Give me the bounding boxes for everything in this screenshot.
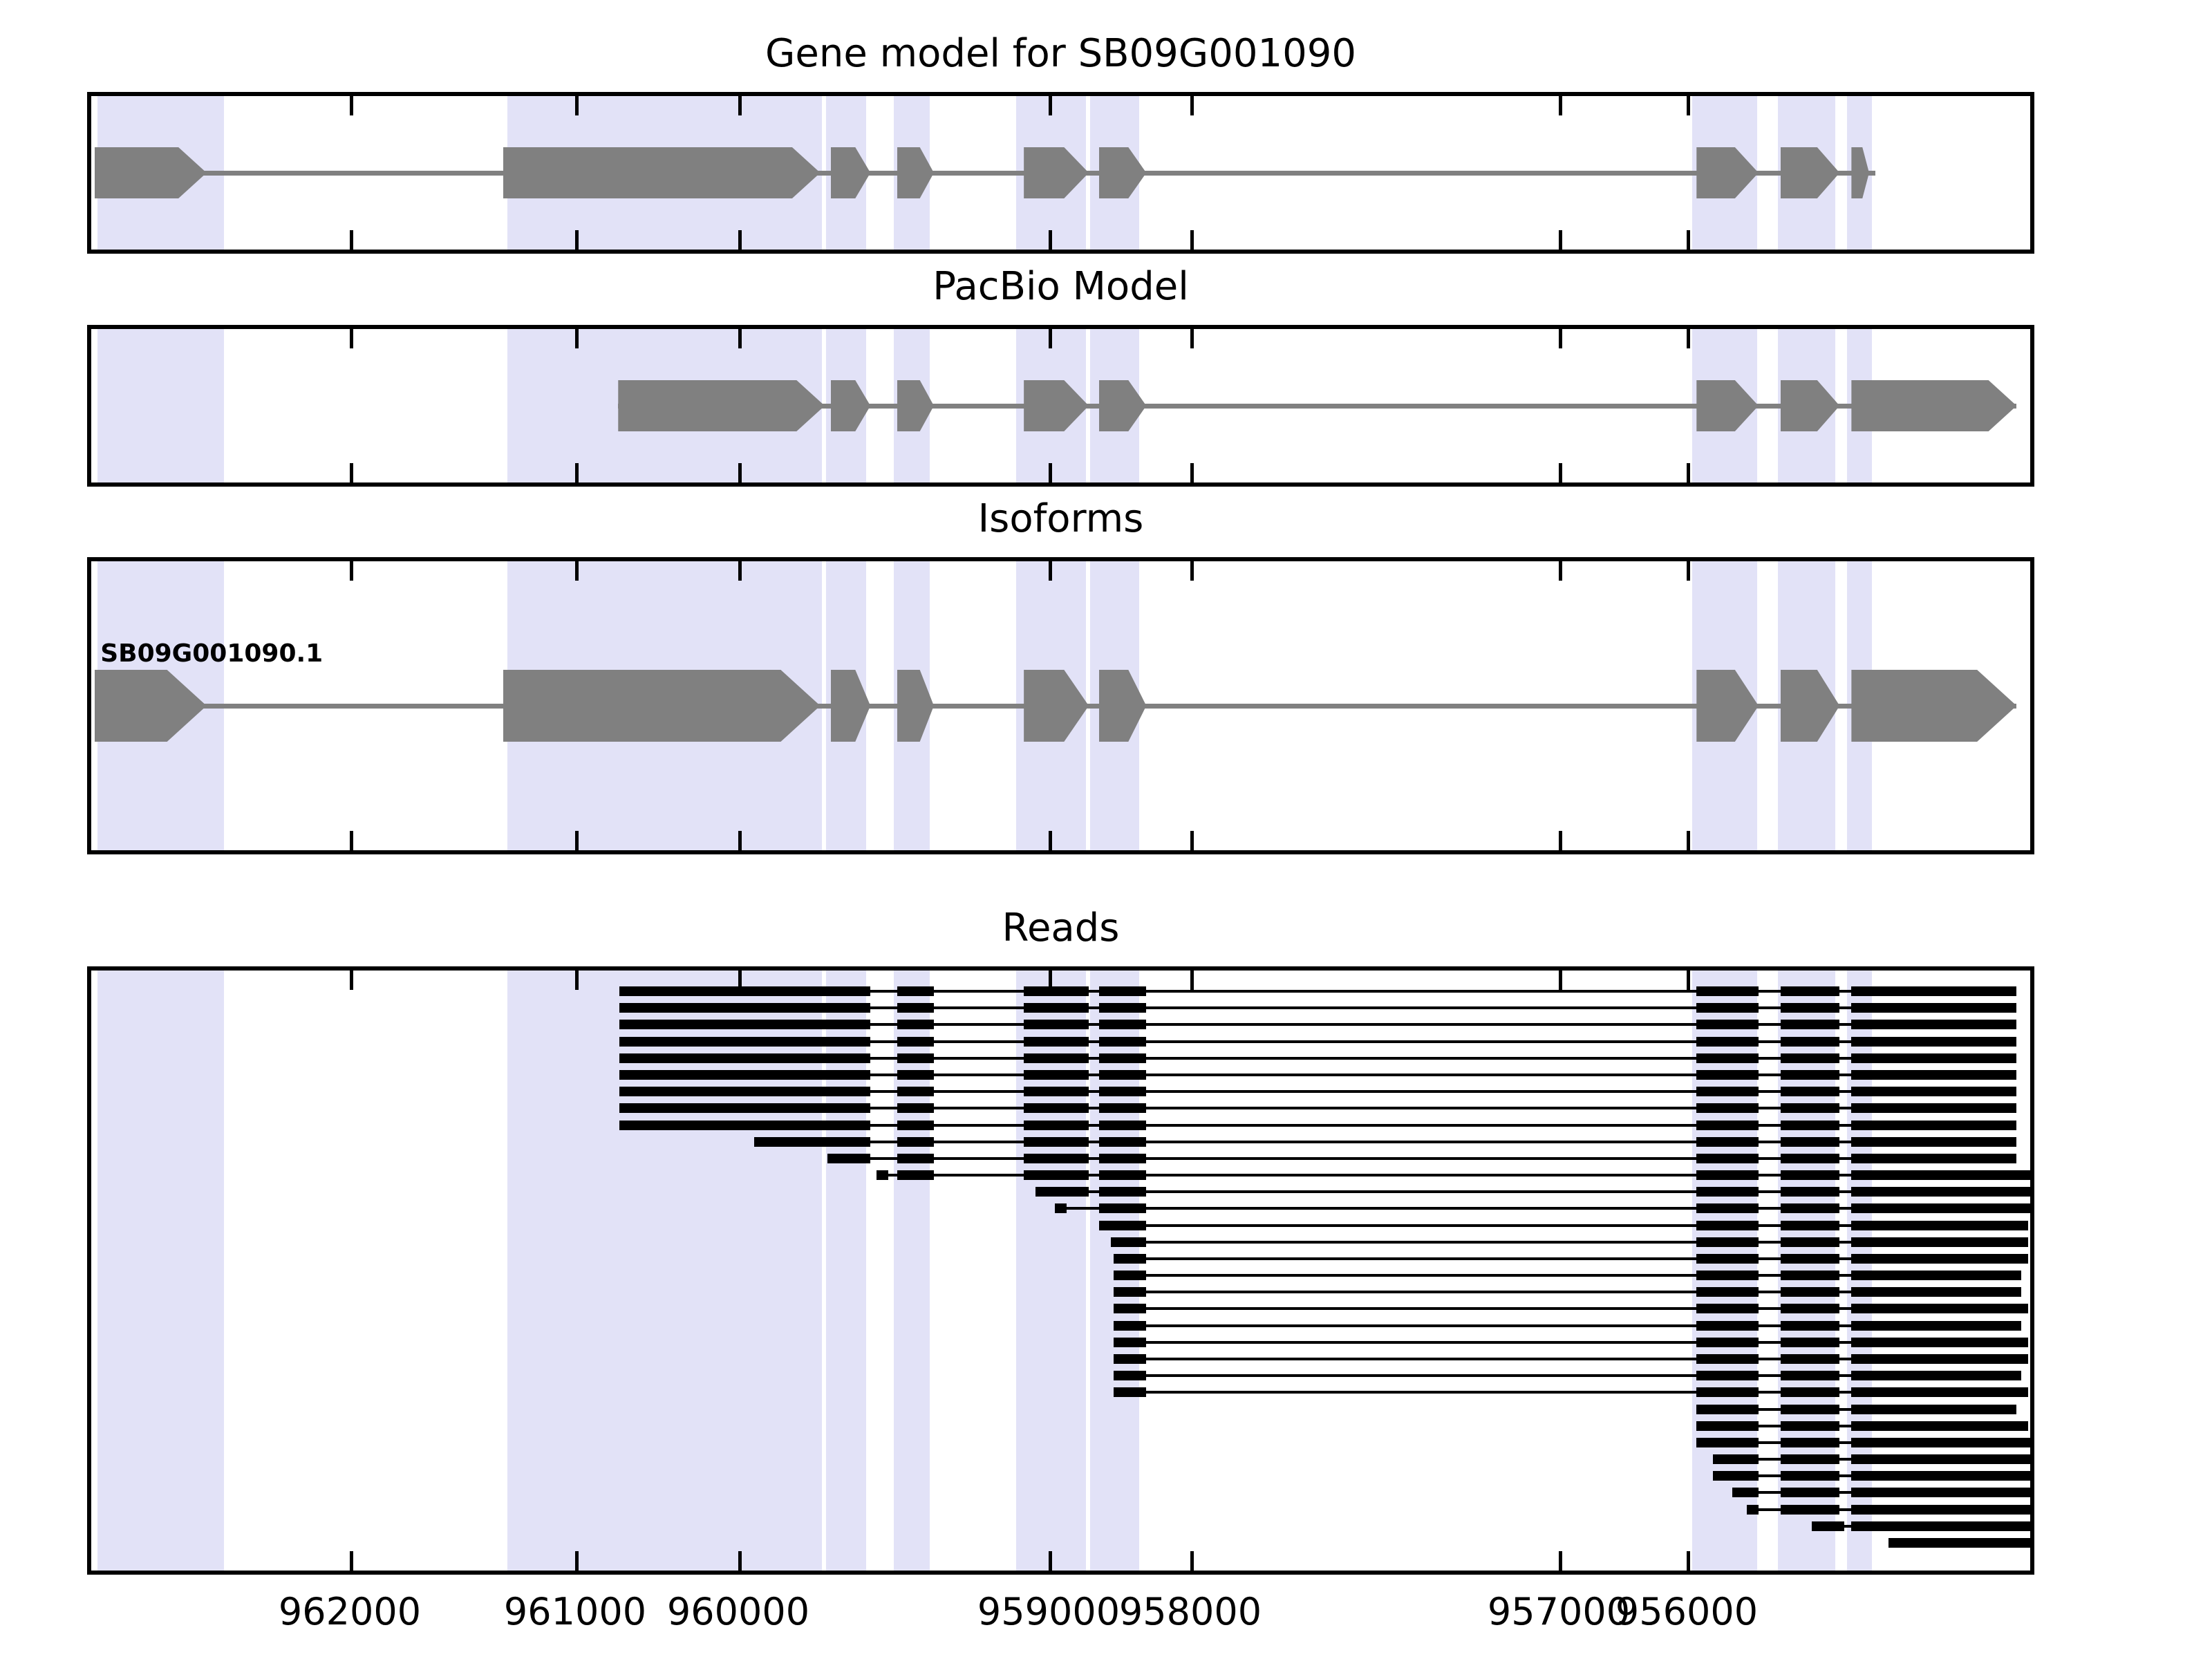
pacbio-model-exon xyxy=(1851,380,2016,431)
read-block xyxy=(1888,1538,2030,1548)
read-block xyxy=(1851,1170,2030,1180)
read-block xyxy=(1696,1287,1759,1297)
read-block xyxy=(1851,1505,2030,1515)
read-block xyxy=(1781,1254,1839,1264)
panel-isoforms: SB09G001090.1 xyxy=(87,557,2034,854)
read-block xyxy=(1111,1237,1146,1247)
axis-tick xyxy=(738,230,742,250)
read-block xyxy=(1696,1304,1759,1313)
axis-tick xyxy=(350,329,353,348)
read-block xyxy=(1851,1488,2030,1497)
read-block xyxy=(1024,1103,1089,1113)
read-block xyxy=(1781,1020,1839,1029)
read-block xyxy=(619,1053,830,1063)
read-block xyxy=(1812,1521,1844,1531)
axis-tick xyxy=(1559,463,1562,482)
axis-tick xyxy=(738,96,742,115)
read-block xyxy=(1099,1203,1146,1213)
read-block xyxy=(1851,1154,2016,1163)
read-block xyxy=(1099,986,1146,996)
read-block xyxy=(897,1003,934,1013)
read-block xyxy=(1851,1471,2030,1481)
read-block xyxy=(1696,1103,1759,1113)
read-block xyxy=(1851,1254,2028,1264)
isoform-exon xyxy=(1851,670,2016,742)
axis-tick xyxy=(1687,230,1690,250)
read-block xyxy=(1713,1471,1759,1481)
read-block xyxy=(1696,1338,1759,1347)
read-block xyxy=(1713,1454,1759,1464)
read-block xyxy=(1851,1121,2016,1130)
pacbio-model-exon xyxy=(1099,380,1146,431)
panel-title-gene_model: Gene model for SB09G001090 xyxy=(87,31,2034,76)
read-block xyxy=(1099,1003,1146,1013)
read-block xyxy=(897,1154,934,1163)
read-block xyxy=(831,1037,871,1047)
read-block xyxy=(1781,1488,1839,1497)
read-block xyxy=(1851,1137,2016,1147)
read-block xyxy=(1114,1371,1146,1380)
axis-tick xyxy=(1190,463,1194,482)
read-block xyxy=(1781,1471,1839,1481)
read-block xyxy=(1114,1271,1146,1280)
axis-tick xyxy=(738,561,742,581)
gene-model-intron-line xyxy=(95,171,1875,176)
read-block xyxy=(1024,1121,1089,1130)
axis-tick xyxy=(1687,463,1690,482)
axis-tick xyxy=(1049,831,1052,850)
read-block xyxy=(1114,1287,1146,1297)
x-axis-tick-label: 957000 xyxy=(1488,1590,1630,1633)
read-block xyxy=(1851,1304,2028,1313)
read-block xyxy=(1851,1271,2021,1280)
read-block xyxy=(1781,1087,1839,1096)
read-block xyxy=(897,986,934,996)
read-block xyxy=(1781,1070,1839,1080)
read-block xyxy=(831,1137,871,1147)
axis-tick xyxy=(575,96,579,115)
read-block xyxy=(1851,1020,2016,1029)
read-block xyxy=(1696,1221,1759,1230)
panel-pacbio_model xyxy=(87,325,2034,487)
isoform-exon xyxy=(503,670,821,742)
read-block xyxy=(1851,1421,2028,1431)
axis-tick xyxy=(350,971,353,990)
read-block xyxy=(1781,1003,1839,1013)
read-block xyxy=(1851,1103,2016,1113)
plot-area-gene_model xyxy=(91,96,2030,250)
read-block xyxy=(1035,1187,1089,1197)
read-block xyxy=(1781,1103,1839,1113)
read-block xyxy=(1781,1121,1839,1130)
read-block xyxy=(831,1087,871,1096)
read-block xyxy=(1024,1154,1089,1163)
read-block xyxy=(897,1037,934,1047)
read-block xyxy=(619,1037,830,1047)
read-block xyxy=(1851,1070,2016,1080)
read-block xyxy=(897,1137,934,1147)
read-block xyxy=(1781,1304,1839,1313)
axis-tick xyxy=(350,96,353,115)
read-block xyxy=(619,1121,830,1130)
read-block xyxy=(897,1121,934,1130)
axis-tick xyxy=(1049,96,1052,115)
read-block xyxy=(1851,1221,2028,1230)
read-block xyxy=(1696,986,1759,996)
read-block xyxy=(1851,1187,2030,1197)
read-block xyxy=(1099,1154,1146,1163)
read-block xyxy=(1024,1170,1089,1180)
read-block xyxy=(1851,1203,2030,1213)
read-block xyxy=(1781,1154,1839,1163)
read-block xyxy=(1696,1321,1759,1331)
axis-tick xyxy=(1687,1551,1690,1571)
axis-tick xyxy=(1687,96,1690,115)
read-block xyxy=(1099,1087,1146,1096)
axis-tick xyxy=(1190,96,1194,115)
read-block xyxy=(831,1154,871,1163)
read-block xyxy=(877,1170,888,1180)
read-block xyxy=(1099,1121,1146,1130)
read-block xyxy=(1781,1354,1839,1364)
axis-tick xyxy=(1687,329,1690,348)
axis-tick xyxy=(1049,561,1052,581)
axis-tick xyxy=(1559,329,1562,348)
read-block xyxy=(1696,1154,1759,1163)
read-block xyxy=(897,1020,934,1029)
read-block xyxy=(1851,1338,2028,1347)
isoform-label: SB09G001090.1 xyxy=(100,639,323,668)
read-block xyxy=(897,1170,934,1180)
read-block xyxy=(1099,1020,1146,1029)
read-block xyxy=(1099,1037,1146,1047)
read-block xyxy=(1696,1037,1759,1047)
read-block xyxy=(1024,1037,1089,1047)
read-block xyxy=(1781,1405,1839,1414)
read-block xyxy=(619,1003,830,1013)
axis-tick xyxy=(1559,96,1562,115)
read-block xyxy=(1024,1003,1089,1013)
x-axis-tick-label: 959000 xyxy=(977,1590,1120,1633)
axis-tick xyxy=(350,230,353,250)
read-block xyxy=(1851,1003,2016,1013)
panel-title-pacbio_model: PacBio Model xyxy=(87,264,2034,309)
x-axis-tick-label: 956000 xyxy=(1615,1590,1758,1633)
axis-tick xyxy=(350,1551,353,1571)
read-block xyxy=(1696,1087,1759,1096)
read-block xyxy=(1851,1037,2016,1047)
read-block xyxy=(1024,1053,1089,1063)
read-block xyxy=(1851,1405,2016,1414)
read-block xyxy=(1024,986,1089,996)
axis-tick xyxy=(1559,971,1562,990)
read-block xyxy=(619,1020,830,1029)
axis-tick xyxy=(738,463,742,482)
read-block xyxy=(1781,1137,1839,1147)
read-block xyxy=(1781,1203,1839,1213)
read-block xyxy=(1099,1137,1146,1147)
axis-tick xyxy=(738,831,742,850)
read-block xyxy=(1024,1020,1089,1029)
axis-tick xyxy=(1190,1551,1194,1571)
read-block xyxy=(619,986,830,996)
read-block xyxy=(897,1103,934,1113)
panel-gene_model xyxy=(87,92,2034,254)
axis-tick xyxy=(575,329,579,348)
plot-area-isoforms: SB09G001090.1 xyxy=(91,561,2030,850)
read-block xyxy=(1099,1187,1146,1197)
read-block xyxy=(831,1103,871,1113)
axis-tick xyxy=(1190,831,1194,850)
axis-tick xyxy=(1687,971,1690,990)
axis-tick xyxy=(575,831,579,850)
read-block xyxy=(1696,1438,1759,1447)
axis-tick xyxy=(1190,561,1194,581)
read-block xyxy=(1696,1121,1759,1130)
genome-browser-figure: Gene model for SB09G001090PacBio ModelIs… xyxy=(0,0,2212,1659)
read-block xyxy=(619,1087,830,1096)
axis-tick xyxy=(575,463,579,482)
read-block xyxy=(1781,1338,1839,1347)
read-block xyxy=(897,1053,934,1063)
axis-tick xyxy=(1559,561,1562,581)
read-block xyxy=(1781,1037,1839,1047)
read-block xyxy=(831,1121,871,1130)
x-axis-tick-label: 960000 xyxy=(667,1590,809,1633)
axis-tick xyxy=(1190,230,1194,250)
axis-tick xyxy=(1687,561,1690,581)
axis-tick xyxy=(575,561,579,581)
read-block xyxy=(1024,1087,1089,1096)
axis-tick xyxy=(1559,230,1562,250)
read-block xyxy=(1781,1321,1839,1331)
read-block xyxy=(1781,1053,1839,1063)
axis-tick xyxy=(1049,230,1052,250)
plot-area-reads xyxy=(91,971,2030,1571)
read-block xyxy=(1851,1354,2028,1364)
read-block xyxy=(1851,1438,2030,1447)
read-block xyxy=(1696,1020,1759,1029)
x-axis-tick-label: 958000 xyxy=(1119,1590,1262,1633)
highlight-band xyxy=(97,329,225,482)
read-block xyxy=(1781,1287,1839,1297)
read-block xyxy=(1696,1053,1759,1063)
read-block xyxy=(1696,1254,1759,1264)
panel-reads xyxy=(87,966,2034,1575)
read-block xyxy=(1696,1137,1759,1147)
read-block xyxy=(1781,1454,1839,1464)
axis-tick xyxy=(575,230,579,250)
read-block xyxy=(1099,1221,1146,1230)
read-block xyxy=(1696,1070,1759,1080)
read-block xyxy=(1114,1338,1146,1347)
panel-title-isoforms: Isoforms xyxy=(87,496,2034,541)
read-block xyxy=(1696,1405,1759,1414)
read-block xyxy=(1781,1421,1839,1431)
read-block xyxy=(1114,1321,1146,1331)
read-block xyxy=(1696,1203,1759,1213)
read-block xyxy=(1747,1505,1759,1515)
read-block xyxy=(1851,1371,2021,1380)
read-block xyxy=(1114,1387,1146,1397)
read-block xyxy=(1781,1187,1839,1197)
read-block xyxy=(1781,986,1839,996)
read-block xyxy=(1114,1304,1146,1313)
read-block xyxy=(1696,1421,1759,1431)
axis-tick xyxy=(1049,1551,1052,1571)
read-block xyxy=(1114,1254,1146,1264)
read-block xyxy=(1851,1454,2030,1464)
read-block xyxy=(1851,1053,2016,1063)
read-block xyxy=(1781,1170,1839,1180)
panel-title-reads: Reads xyxy=(87,906,2034,950)
read-block xyxy=(1851,1287,2021,1297)
read-block xyxy=(1732,1488,1759,1497)
axis-tick xyxy=(1687,831,1690,850)
read-block xyxy=(1099,1053,1146,1063)
axis-tick xyxy=(350,561,353,581)
x-axis-tick-label: 962000 xyxy=(279,1590,421,1633)
read-block xyxy=(897,1070,934,1080)
read-block xyxy=(897,1087,934,1096)
read-block xyxy=(1696,1387,1759,1397)
gene-model-exon xyxy=(503,147,821,198)
axis-tick xyxy=(350,831,353,850)
read-block xyxy=(1024,1070,1089,1080)
read-block xyxy=(1851,1237,2028,1247)
axis-tick xyxy=(1049,463,1052,482)
read-block xyxy=(831,1070,871,1080)
read-block xyxy=(1781,1387,1839,1397)
read-block xyxy=(1696,1371,1759,1380)
pacbio-model-exon xyxy=(618,380,825,431)
read-block xyxy=(1099,1070,1146,1080)
axis-tick xyxy=(575,971,579,990)
axis-tick xyxy=(1190,329,1194,348)
read-block xyxy=(1781,1221,1839,1230)
x-axis-tick-label: 961000 xyxy=(504,1590,646,1633)
read-block xyxy=(1781,1371,1839,1380)
axis-tick xyxy=(738,329,742,348)
read-block xyxy=(1055,1203,1067,1213)
read-block xyxy=(831,1053,871,1063)
read-block xyxy=(1696,1170,1759,1180)
isoform-exon xyxy=(1099,670,1146,742)
plot-area-pacbio_model xyxy=(91,329,2030,482)
read-block xyxy=(619,1103,830,1113)
read-block xyxy=(1851,1521,2030,1531)
read-block xyxy=(1696,1187,1759,1197)
axis-tick xyxy=(738,1551,742,1571)
read-block xyxy=(831,986,871,996)
read-block xyxy=(754,1137,831,1147)
axis-tick xyxy=(1559,831,1562,850)
read-block xyxy=(1099,1170,1146,1180)
read-block xyxy=(1781,1505,1839,1515)
axis-tick xyxy=(1190,971,1194,990)
axis-tick xyxy=(575,1551,579,1571)
read-block xyxy=(1024,1137,1089,1147)
read-block xyxy=(1851,1387,2028,1397)
axis-tick xyxy=(1049,329,1052,348)
read-block xyxy=(1696,1271,1759,1280)
read-block xyxy=(1114,1354,1146,1364)
read-block xyxy=(1851,986,2016,996)
read-block xyxy=(1851,1321,2021,1331)
read-block xyxy=(831,1020,871,1029)
axis-tick xyxy=(1559,1551,1562,1571)
read-block xyxy=(1781,1271,1839,1280)
read-block xyxy=(1099,1103,1146,1113)
highlight-band xyxy=(97,971,225,1571)
read-block xyxy=(1781,1237,1839,1247)
read-block xyxy=(619,1070,830,1080)
read-block xyxy=(1696,1237,1759,1247)
read-block xyxy=(1781,1438,1839,1447)
read-block xyxy=(1851,1087,2016,1096)
axis-tick xyxy=(350,463,353,482)
gene-model-exon xyxy=(1099,147,1146,198)
read-block xyxy=(1696,1354,1759,1364)
read-block xyxy=(831,1003,871,1013)
read-block xyxy=(1696,1003,1759,1013)
